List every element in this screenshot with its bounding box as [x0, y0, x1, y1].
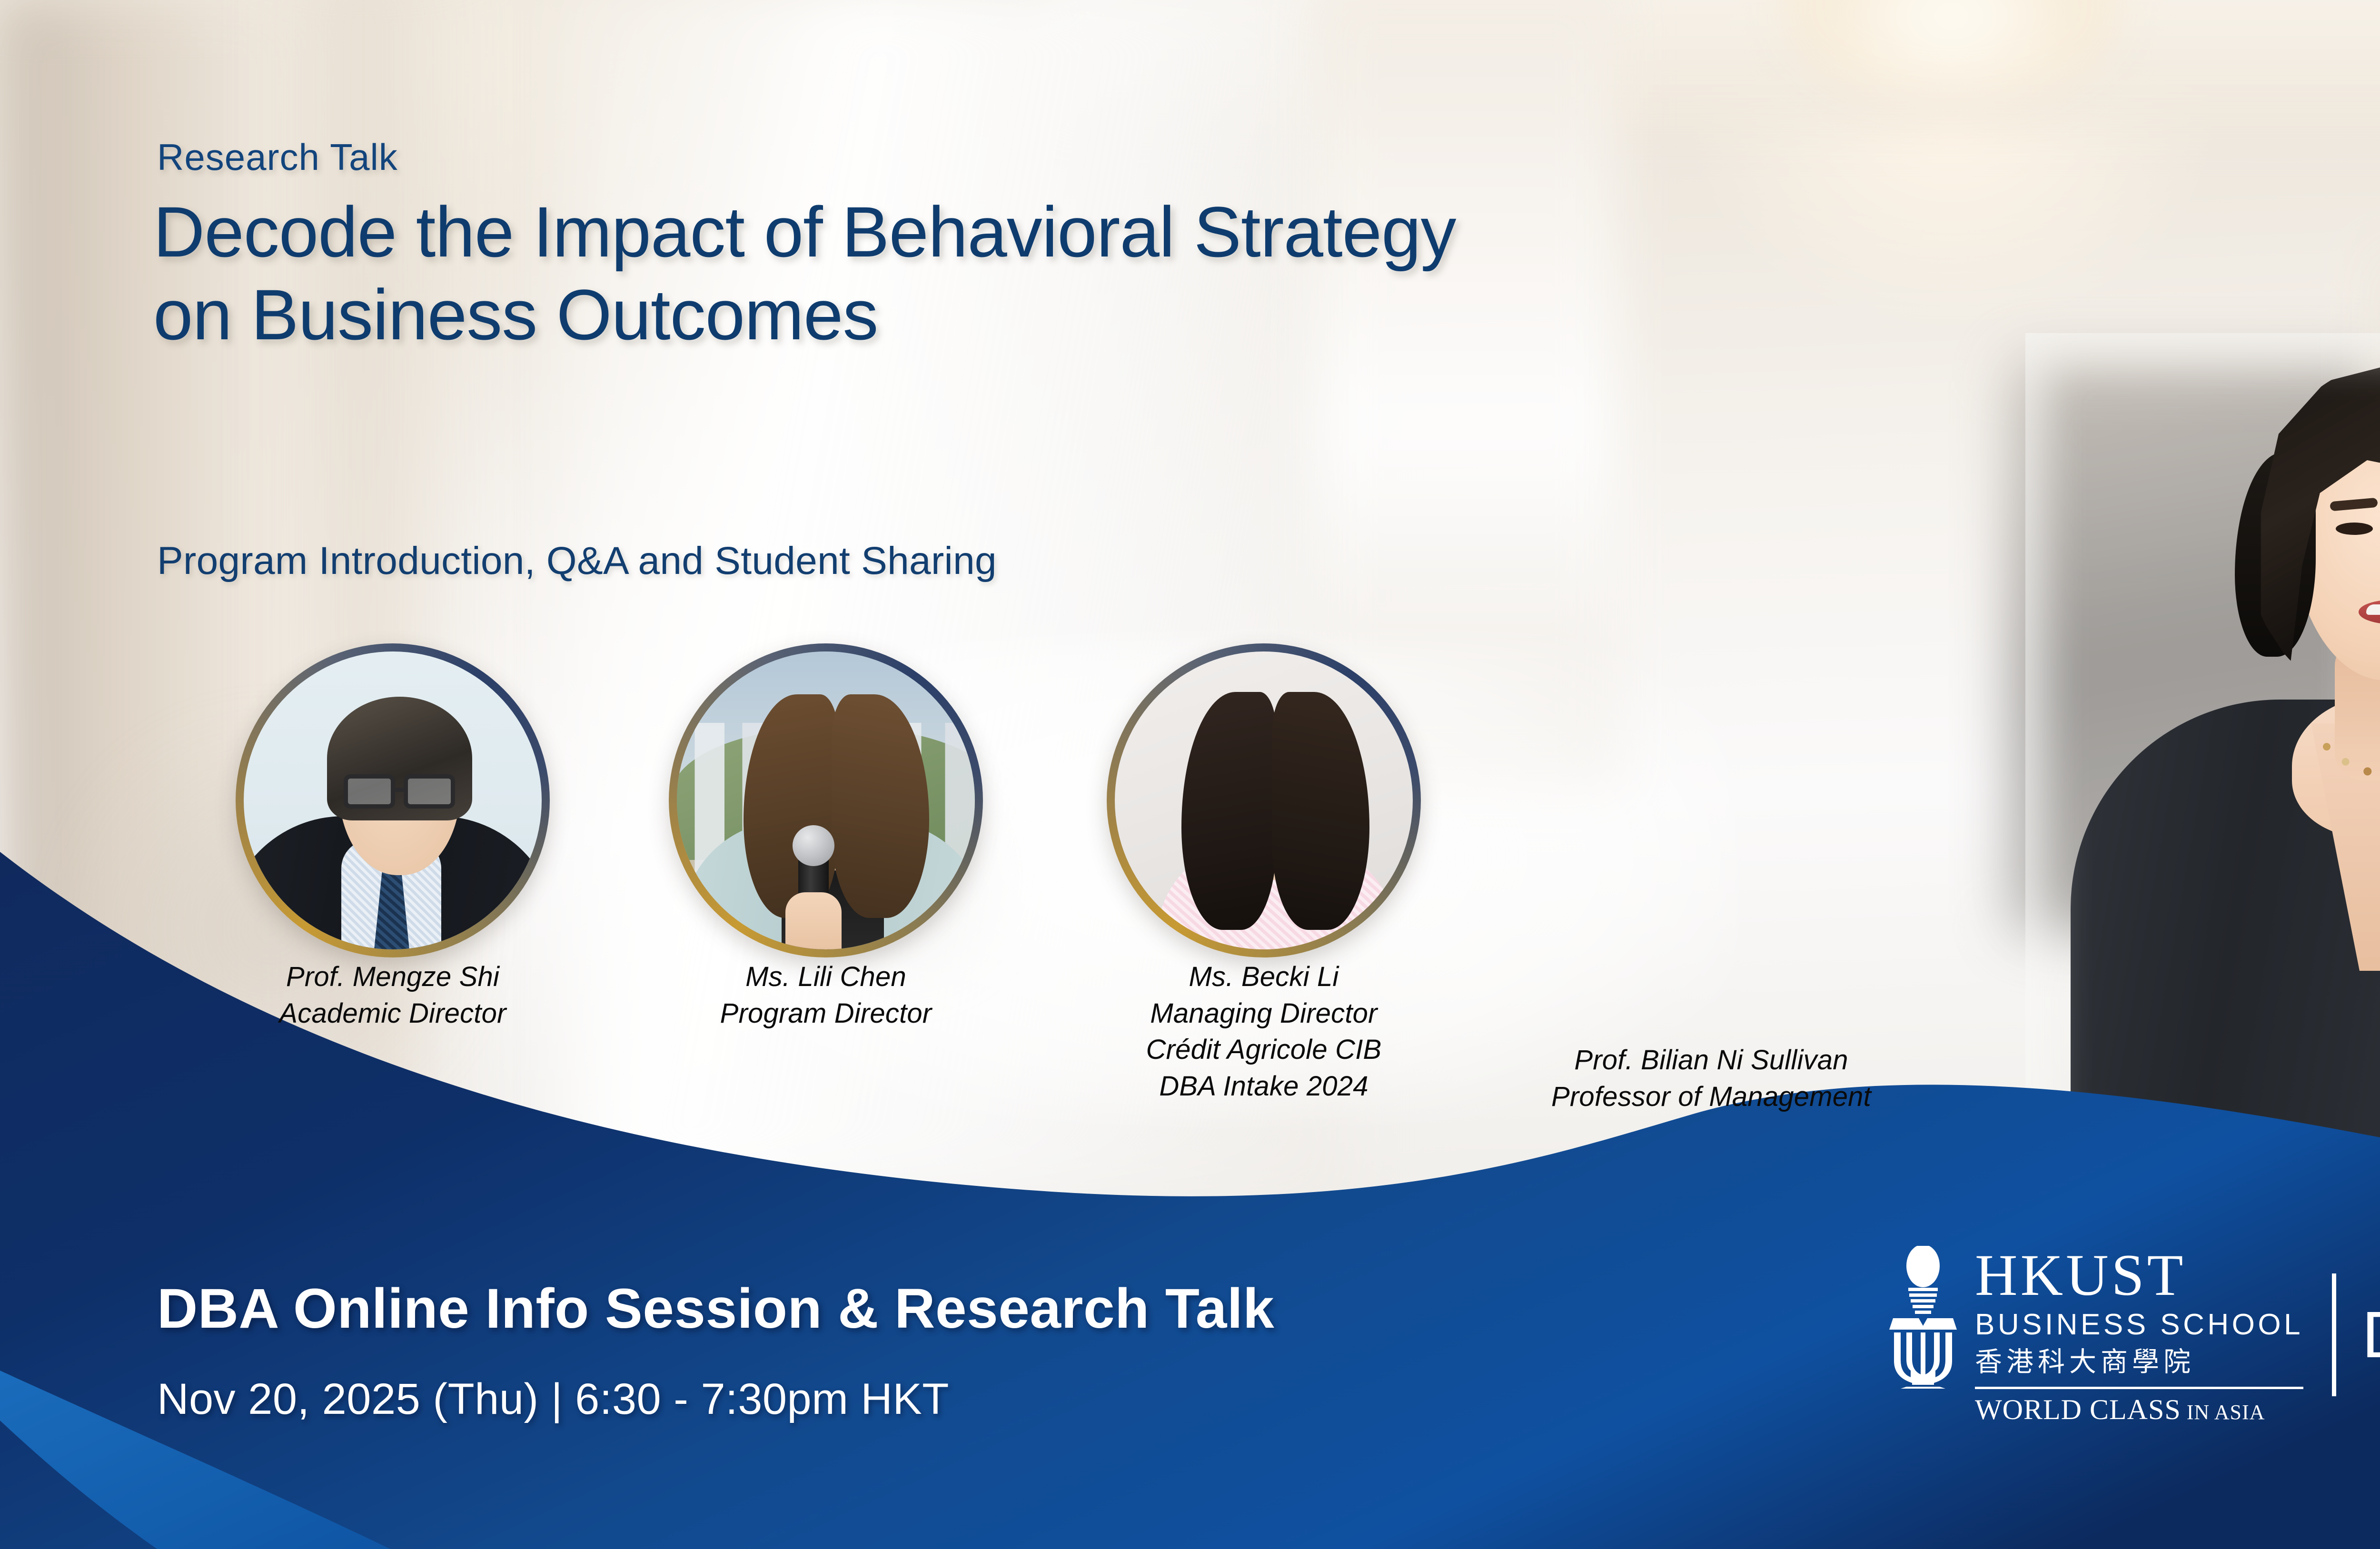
logo-dba-text: DBA	[2362, 1302, 2380, 1368]
logo-tagline: WORLD CLASS IN ASIA	[1975, 1395, 2303, 1424]
logo-divider-rule	[1975, 1387, 2303, 1389]
speaker-caption-becki-li: Ms. Becki Li Managing Director Crédit Ag…	[1035, 959, 1492, 1105]
speaker-portrait-lili-chen	[669, 643, 983, 957]
speaker-caption-lili-chen: Ms. Lili Chen Program Director	[597, 959, 1054, 1032]
hkust-torch-icon	[1887, 1246, 1959, 1389]
p1-glasses-left	[344, 774, 395, 809]
p2-hand	[785, 892, 842, 949]
page-title: Decode the Impact of Behavioral Strategy…	[153, 190, 2248, 356]
speaker-portrait-becki-li	[1107, 643, 1421, 957]
p3-hair-right	[1272, 692, 1369, 930]
logo-wordmark: HKUST BUSINESS SCHOOL 香港科大商學院 WORLD CLAS…	[1975, 1246, 2303, 1424]
event-poster: Research Talk Decode the Impact of Behav…	[0, 0, 2380, 1549]
speaker-caption-mengze-shi: Prof. Mengze Shi Academic Director	[164, 959, 621, 1032]
logo-tagline-light: IN ASIA	[2181, 1401, 2265, 1424]
portrait-image-mengze-shi	[244, 651, 542, 949]
speaker-caption-bilian-ni-sullivan: Prof. Bilian Ni Sullivan Professor of Ma…	[1459, 1042, 1963, 1115]
subtitle-text: Program Introduction, Q&A and Student Sh…	[157, 539, 997, 583]
portrait-image-becki-li	[1115, 651, 1413, 949]
logo-vertical-divider	[2332, 1273, 2336, 1396]
event-datetime: Nov 20, 2025 (Thu) | 6:30 - 7:30pm HKT	[157, 1374, 949, 1424]
microphone-head-icon	[793, 825, 834, 866]
logo-left-group: HKUST BUSINESS SCHOOL 香港科大商學院 WORLD CLAS…	[1887, 1246, 2303, 1424]
p3-hair-left	[1181, 692, 1277, 930]
logo-hkust-text: HKUST	[1975, 1246, 2303, 1305]
headline-line-1: Decode the Impact of Behavioral Strategy	[153, 190, 2248, 273]
logo-school-text: BUSINESS SCHOOL	[1975, 1305, 2303, 1345]
kicker-label: Research Talk	[157, 136, 398, 179]
wave-navy-main	[0, 852, 2380, 1549]
logo-chinese-text: 香港科大商學院	[1975, 1344, 2303, 1380]
p1-glasses-bridge	[395, 788, 405, 792]
p1-glasses-right	[404, 774, 455, 809]
headline-line-2: on Business Outcomes	[153, 273, 2248, 356]
event-title: DBA Online Info Session & Research Talk	[157, 1276, 1274, 1341]
portrait-image-lili-chen	[677, 651, 975, 949]
hkust-business-school-logo: HKUST BUSINESS SCHOOL 香港科大商學院 WORLD CLAS…	[1887, 1244, 2380, 1425]
logo-tagline-strong: WORLD CLASS	[1975, 1394, 2181, 1425]
speaker-portrait-mengze-shi	[236, 643, 550, 957]
